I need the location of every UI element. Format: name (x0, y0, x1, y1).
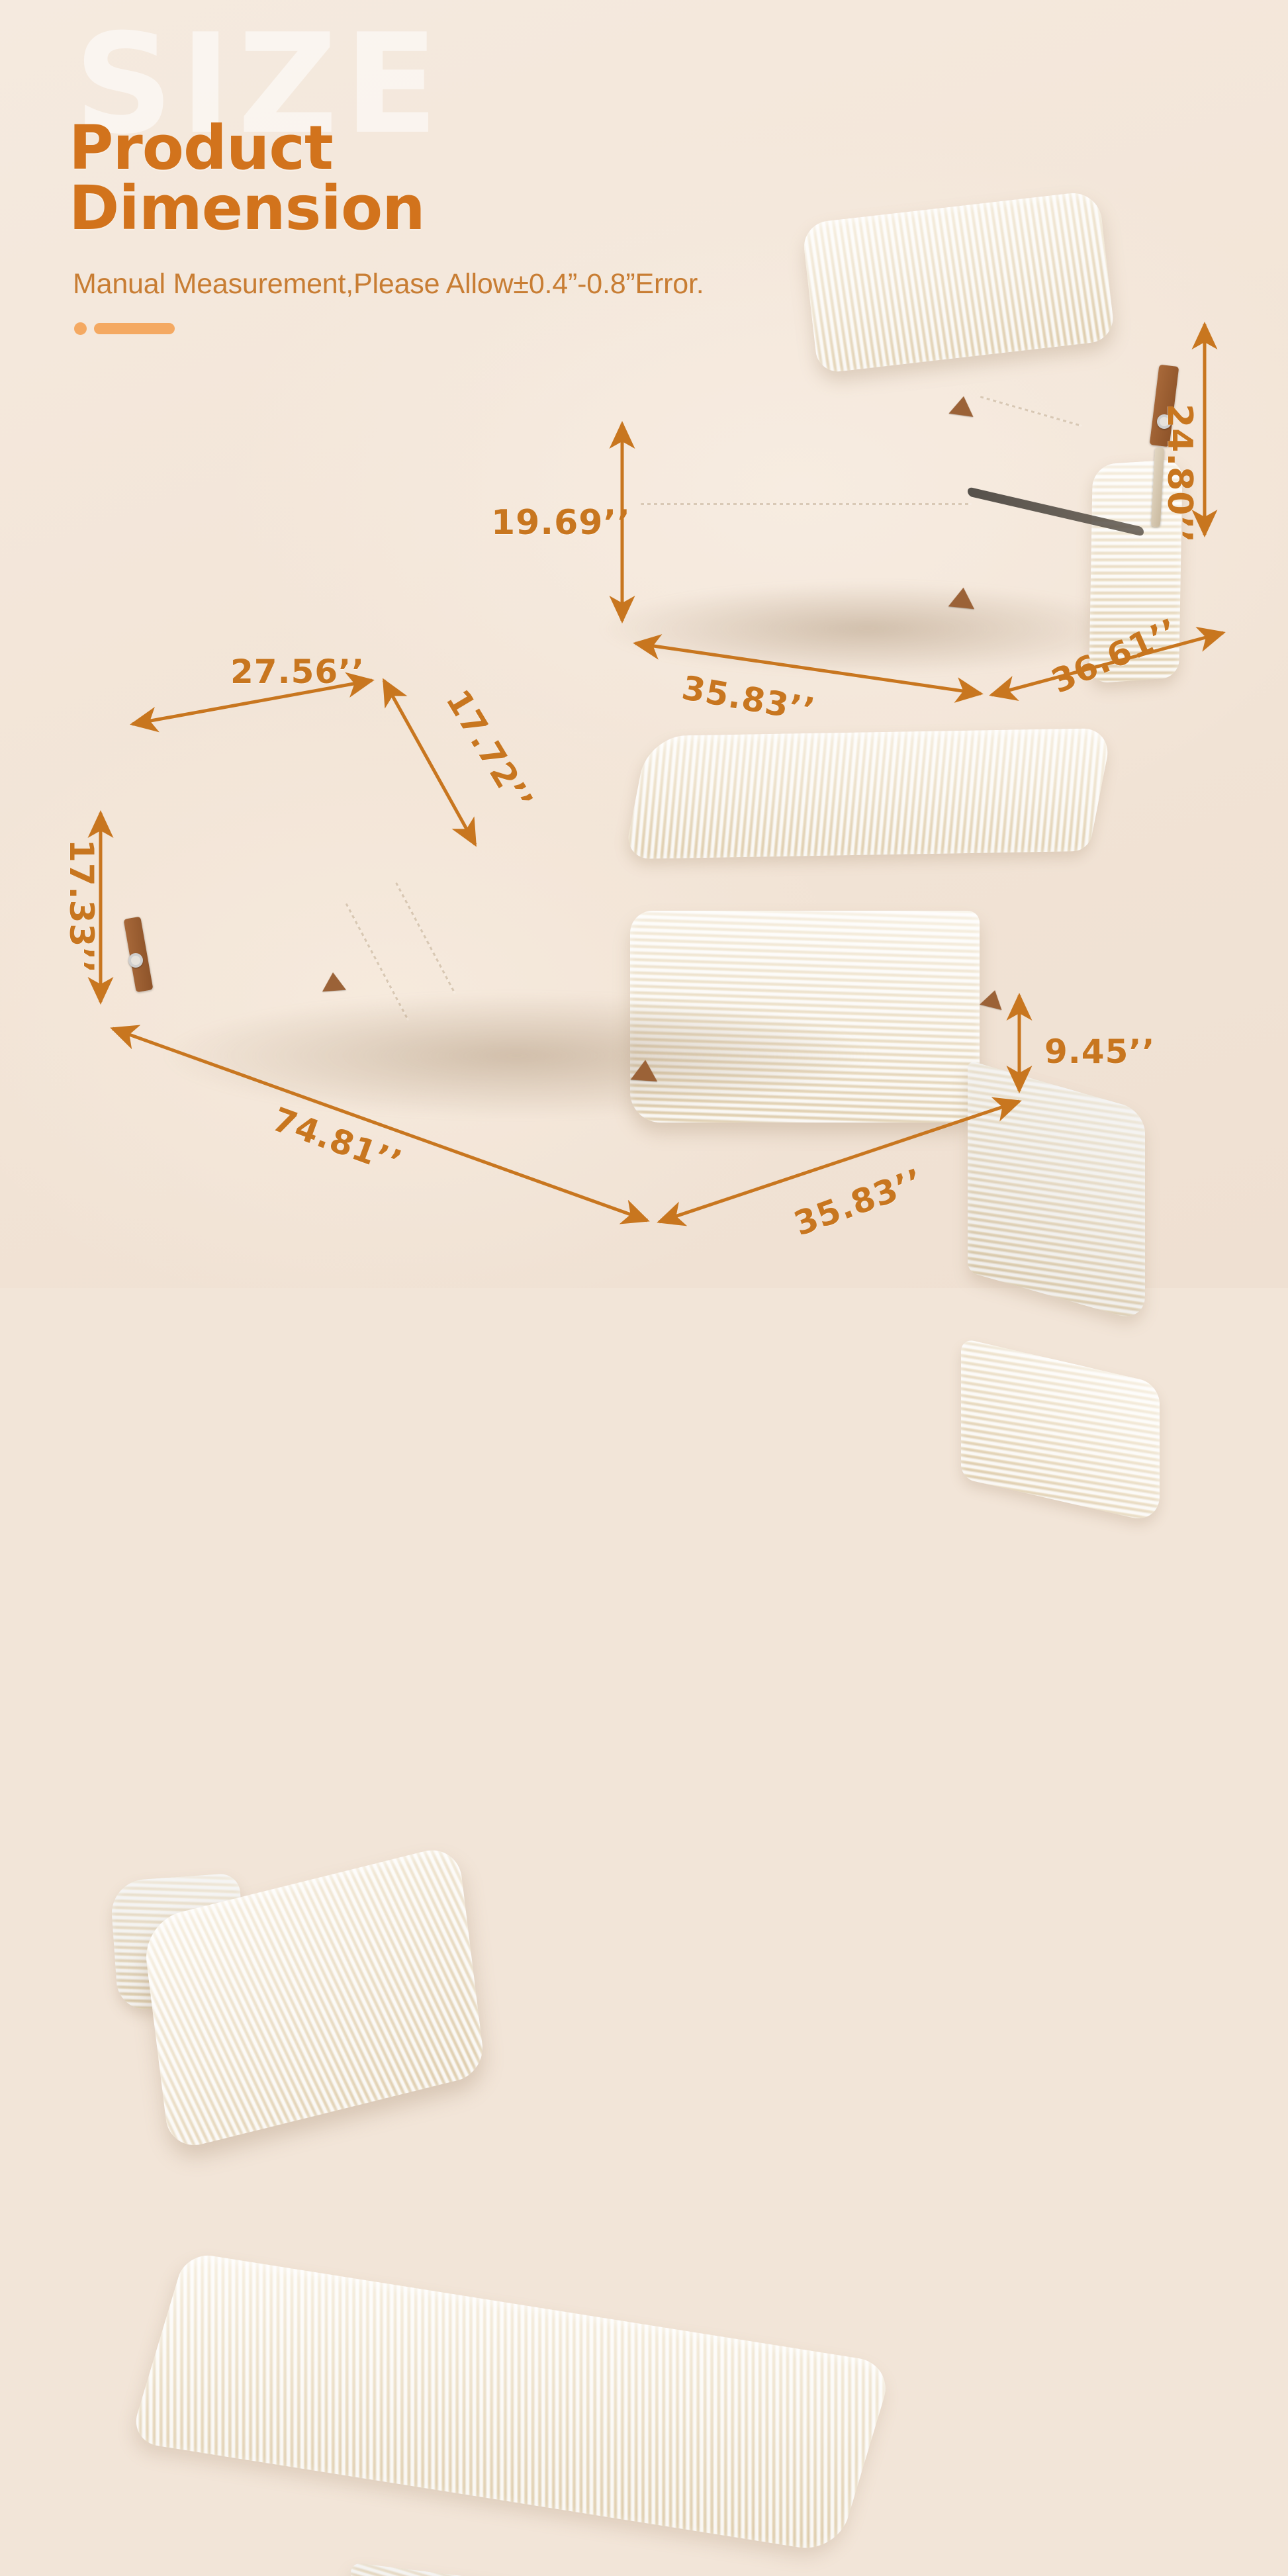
accent-bar-icon (94, 323, 175, 334)
folded-chair-corner-tab-bottom (948, 586, 977, 610)
dim-label-19-69: 19.69’’ (491, 503, 631, 543)
folded-chair-seam-b (980, 396, 1083, 427)
accent-dot-icon (74, 322, 87, 335)
dim-label-27-56: 27.56’’ (230, 653, 365, 691)
page-title: Product Dimension (69, 118, 425, 238)
infographic-canvas: SIZE Product Dimension Manual Measuremen… (0, 0, 1288, 1288)
folded-chair-backrest-pillow (802, 190, 1116, 374)
measurement-disclaimer: Manual Measurement,Please Allow±0.4”-0.8… (73, 268, 704, 300)
unfolded-bed-mattress-top (129, 2252, 894, 2553)
unfolded-bed-buckle-icon (128, 953, 143, 968)
folded-chair-seam-a (641, 503, 972, 505)
unfolded-bed-shadow (159, 993, 874, 1119)
unfolded-bed-corner-tab-mid (321, 972, 346, 991)
unfolded-bed-mattress-front (351, 2562, 834, 2576)
dim-label-17-33: 17.33’’ (62, 839, 101, 974)
folded-chair-corner-tab-top (948, 394, 976, 417)
unfolded-bed-corner-tab-front (631, 1059, 659, 1081)
folded-chair-seat-top (624, 728, 1113, 859)
page-title-line2: Dimension (69, 178, 425, 238)
dim-label-35-83-bottom: 35.83’’ (789, 1162, 929, 1244)
dim-label-35-83-top: 35.83’’ (679, 668, 818, 729)
accent-divider (74, 322, 175, 335)
dim-label-24-80: 24.80’’ (1160, 404, 1199, 543)
dim-label-9-45: 9.45’’ (1044, 1033, 1155, 1071)
